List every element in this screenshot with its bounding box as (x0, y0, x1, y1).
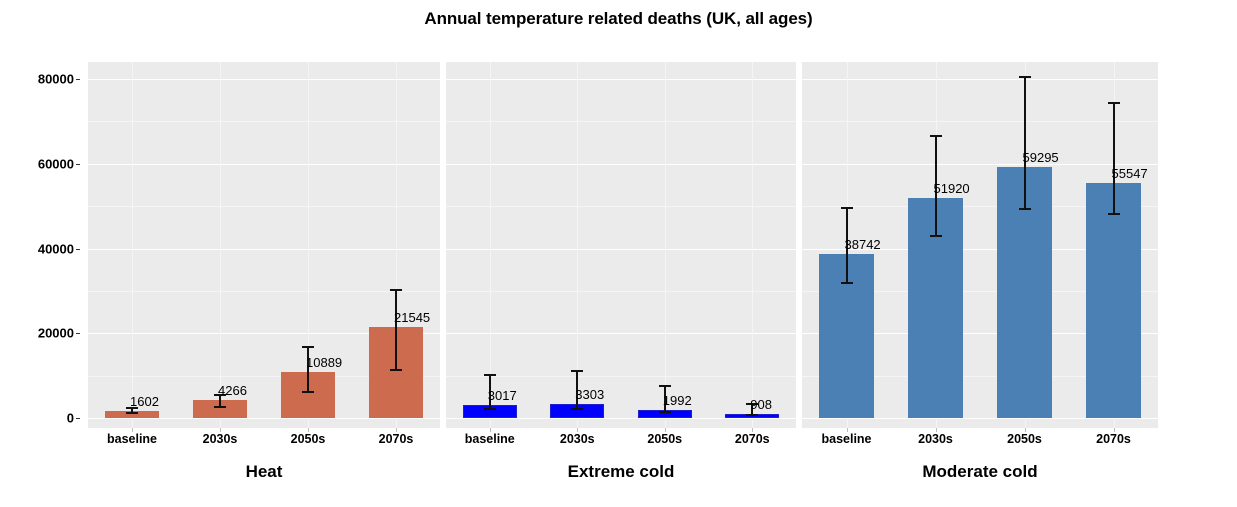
error-bar-cap-bottom (571, 408, 583, 410)
error-bar-cap-top (302, 346, 314, 348)
panel-inner (88, 62, 440, 428)
x-axis-tick-label: 2050s (1007, 432, 1042, 446)
error-bar-line (1113, 102, 1115, 215)
bar-value-label: 55547 (1112, 166, 1148, 181)
error-bar-cap-top (930, 135, 942, 137)
gridline-major (446, 418, 796, 419)
y-axis-tick-label: 0 (67, 411, 74, 426)
x-axis-tick-label: 2030s (203, 432, 238, 446)
gridline-major (88, 164, 440, 165)
gridline-major (88, 79, 440, 80)
gridline-minor (446, 206, 796, 207)
gridline-minor (446, 291, 796, 292)
plot-area: 020000400006000080000 160242661088921545… (0, 0, 1237, 507)
bar-value-label: 21545 (394, 310, 430, 325)
error-bar-cap-bottom (484, 408, 496, 410)
bar-value-label: 51920 (934, 181, 970, 196)
error-bar-cap-bottom (841, 282, 853, 284)
bar-value-label: 10889 (306, 355, 342, 370)
gridline-major (446, 249, 796, 250)
error-bar-cap-bottom (126, 412, 138, 414)
x-axis-tick-label: baseline (107, 432, 157, 446)
y-axis-tick-label: 80000 (38, 72, 74, 87)
chart-root: Annual temperature related deaths (UK, a… (0, 0, 1237, 507)
gridline-minor (446, 121, 796, 122)
facet-panel-moderate-cold: 38742519205929555547 (802, 62, 1158, 428)
gridline-category (665, 62, 666, 428)
x-axis-tick-label: 2070s (1096, 432, 1131, 446)
x-axis-tick-label: 2050s (647, 432, 682, 446)
error-bar-cap-top (659, 385, 671, 387)
bar-value-label: 3303 (575, 387, 604, 402)
facet-strip-label: Heat (246, 462, 283, 482)
x-axis-tick-label: 2030s (918, 432, 953, 446)
facet-panel-extreme-cold: 301733031992908 (446, 62, 796, 428)
bar-value-label: 908 (750, 397, 772, 412)
error-bar-cap-top (484, 374, 496, 376)
gridline-minor (88, 291, 440, 292)
gridline-category (752, 62, 753, 428)
bar-value-label: 38742 (845, 237, 881, 252)
x-axis-tick-label: 2070s (379, 432, 414, 446)
gridline-major (446, 333, 796, 334)
error-bar-cap-top (1019, 76, 1031, 78)
gridline-minor (802, 121, 1158, 122)
gridline-major (88, 249, 440, 250)
error-bar-line (307, 346, 309, 393)
gridline-major (802, 79, 1158, 80)
error-bar-cap-bottom (390, 369, 402, 371)
y-axis-tick-label: 20000 (38, 326, 74, 341)
gridline-major (88, 418, 440, 419)
error-bar-cap-top (390, 289, 402, 291)
error-bar-cap-top (1108, 102, 1120, 104)
error-bar-cap-bottom (302, 391, 314, 393)
y-axis-tick-mark (76, 333, 80, 334)
gridline-category (220, 62, 221, 428)
y-axis-tick-mark (76, 79, 80, 80)
y-axis: 020000400006000080000 (0, 0, 88, 507)
error-bar-line (1024, 76, 1026, 209)
y-axis-tick-mark (76, 418, 80, 419)
facet-strip-label: Extreme cold (568, 462, 675, 482)
error-bar-cap-bottom (214, 406, 226, 408)
gridline-category (132, 62, 133, 428)
error-bar-line (395, 289, 397, 371)
bar-value-label: 3017 (488, 388, 517, 403)
facet-panel-heat: 160242661088921545 (88, 62, 440, 428)
gridline-major (446, 164, 796, 165)
bar (1086, 183, 1141, 418)
gridline-major (446, 79, 796, 80)
gridline-minor (446, 376, 796, 377)
bar-value-label: 1992 (663, 393, 692, 408)
error-bar-cap-bottom (1108, 213, 1120, 215)
x-axis-tick-label: 2070s (735, 432, 770, 446)
x-axis-tick-label: 2050s (291, 432, 326, 446)
y-axis-tick-mark (76, 249, 80, 250)
gridline-major (802, 418, 1158, 419)
x-axis-tick-label: 2030s (560, 432, 595, 446)
error-bar-cap-bottom (930, 235, 942, 237)
gridline-major (802, 164, 1158, 165)
error-bar-cap-bottom (1019, 208, 1031, 210)
bar-value-label: 4266 (218, 383, 247, 398)
y-axis-tick-label: 60000 (38, 156, 74, 171)
gridline-minor (88, 206, 440, 207)
x-axis-tick-label: baseline (465, 432, 515, 446)
bar-value-label: 1602 (130, 394, 159, 409)
panel-inner (446, 62, 796, 428)
y-axis-tick-label: 40000 (38, 241, 74, 256)
bar-value-label: 59295 (1023, 150, 1059, 165)
error-bar-cap-top (571, 370, 583, 372)
error-bar-cap-bottom (659, 411, 671, 413)
x-axis-tick-label: baseline (821, 432, 871, 446)
error-bar-cap-top (841, 207, 853, 209)
error-bar-cap-bottom (746, 414, 758, 416)
y-axis-tick-mark (76, 164, 80, 165)
gridline-minor (88, 121, 440, 122)
facet-strip-label: Moderate cold (922, 462, 1037, 482)
